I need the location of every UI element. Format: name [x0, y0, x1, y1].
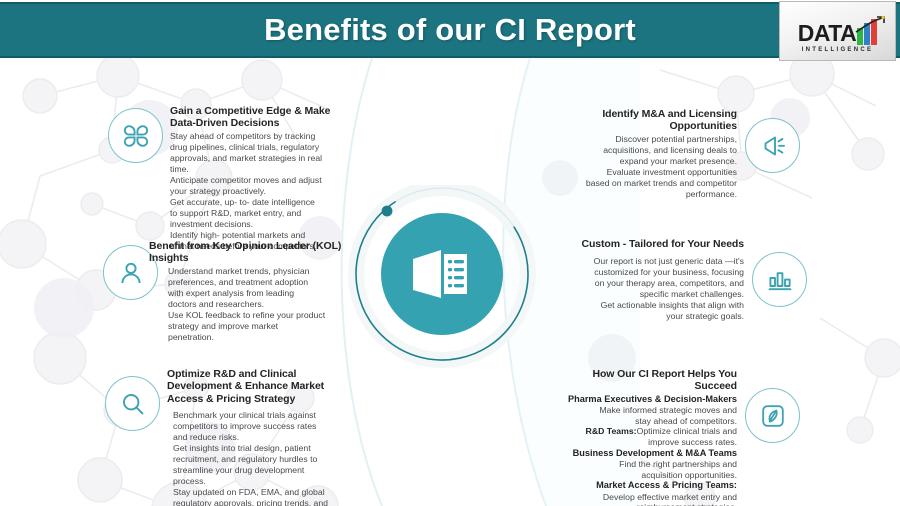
benefit-title: How Our CI Report Helps You Succeed [552, 368, 737, 393]
benefit-body: Understand market trends, physician pref… [149, 266, 348, 343]
center-disc [381, 213, 503, 335]
user-person-icon [118, 260, 144, 286]
brand-logo: DATA INTELLIGENCE [779, 1, 896, 61]
benefit-title: Custom - Tailored for Your Needs [552, 238, 744, 250]
audience-inline-row: R&D Teams:Optimize clinical trials and [552, 426, 737, 437]
benefit-body: Stay ahead of competitors by tracking dr… [170, 131, 348, 252]
benefit-text-ma: Identify M&A and Licensing Opportunities… [552, 108, 737, 200]
benefit-body: Benchmark your clinical trials against c… [167, 410, 348, 506]
page-title: Benefits of our CI Report [264, 12, 636, 48]
audience-heading: Market Access & Pricing Teams: [552, 480, 737, 491]
megaphone-icon-ring [745, 118, 800, 173]
benefit-text-kol: Benefit from Key Opinion Leader (KOL) In… [149, 240, 348, 343]
megaphone-icon [759, 133, 787, 159]
pen-edit-icon [760, 403, 786, 429]
benefit-text-rd: Optimize R&D and Clinical Development & … [167, 368, 348, 506]
benefit-body: Discover potential partnerships, acquisi… [552, 134, 737, 200]
benefit-body: Pharma Executives & Decision-Makers Make… [552, 394, 737, 506]
report-book-icon [411, 247, 473, 301]
logo-bars-icon [857, 19, 877, 45]
benefit-title: Identify M&A and Licensing Opportunities [552, 108, 737, 133]
clover-grid-icon [123, 123, 149, 149]
header-bar: Benefits of our CI Report [0, 2, 900, 58]
benefit-title: Benefit from Key Opinion Leader (KOL) In… [149, 240, 348, 265]
logo-subtitle: INTELLIGENCE [802, 47, 874, 53]
slide-canvas: Benefits of our CI Report DATA INTELLIGE… [0, 0, 900, 506]
benefit-text-custom-tailored: Custom - Tailored for Your Needs Our rep… [552, 238, 744, 322]
benefit-title: Gain a Competitive Edge & Make Data-Driv… [170, 105, 348, 130]
audience-heading: Pharma Executives & Decision-Makers [552, 394, 737, 405]
bar-chart-icon-ring [752, 252, 807, 307]
audience-heading: Business Development & M&A Teams [552, 448, 737, 459]
benefit-text-how-helps: How Our CI Report Helps You Succeed Phar… [552, 368, 737, 506]
center-graphic [345, 185, 560, 400]
benefit-title: Optimize R&D and Clinical Development & … [167, 368, 348, 405]
benefit-text-competitive-edge: Gain a Competitive Edge & Make Data-Driv… [170, 105, 348, 252]
pen-edit-icon-ring [745, 388, 800, 443]
clover-grid-icon-ring [108, 108, 163, 163]
benefit-body: Our report is not just generic data —it'… [552, 256, 744, 322]
bar-chart-icon [767, 267, 793, 293]
ring-progress-dot [382, 206, 393, 217]
logo-wordmark: DATA [798, 22, 856, 45]
logo-mark: DATA [798, 15, 877, 45]
logo-arrow-icon [855, 16, 885, 34]
magnifier-search-icon-ring [105, 376, 160, 431]
magnifier-search-icon [120, 391, 146, 417]
